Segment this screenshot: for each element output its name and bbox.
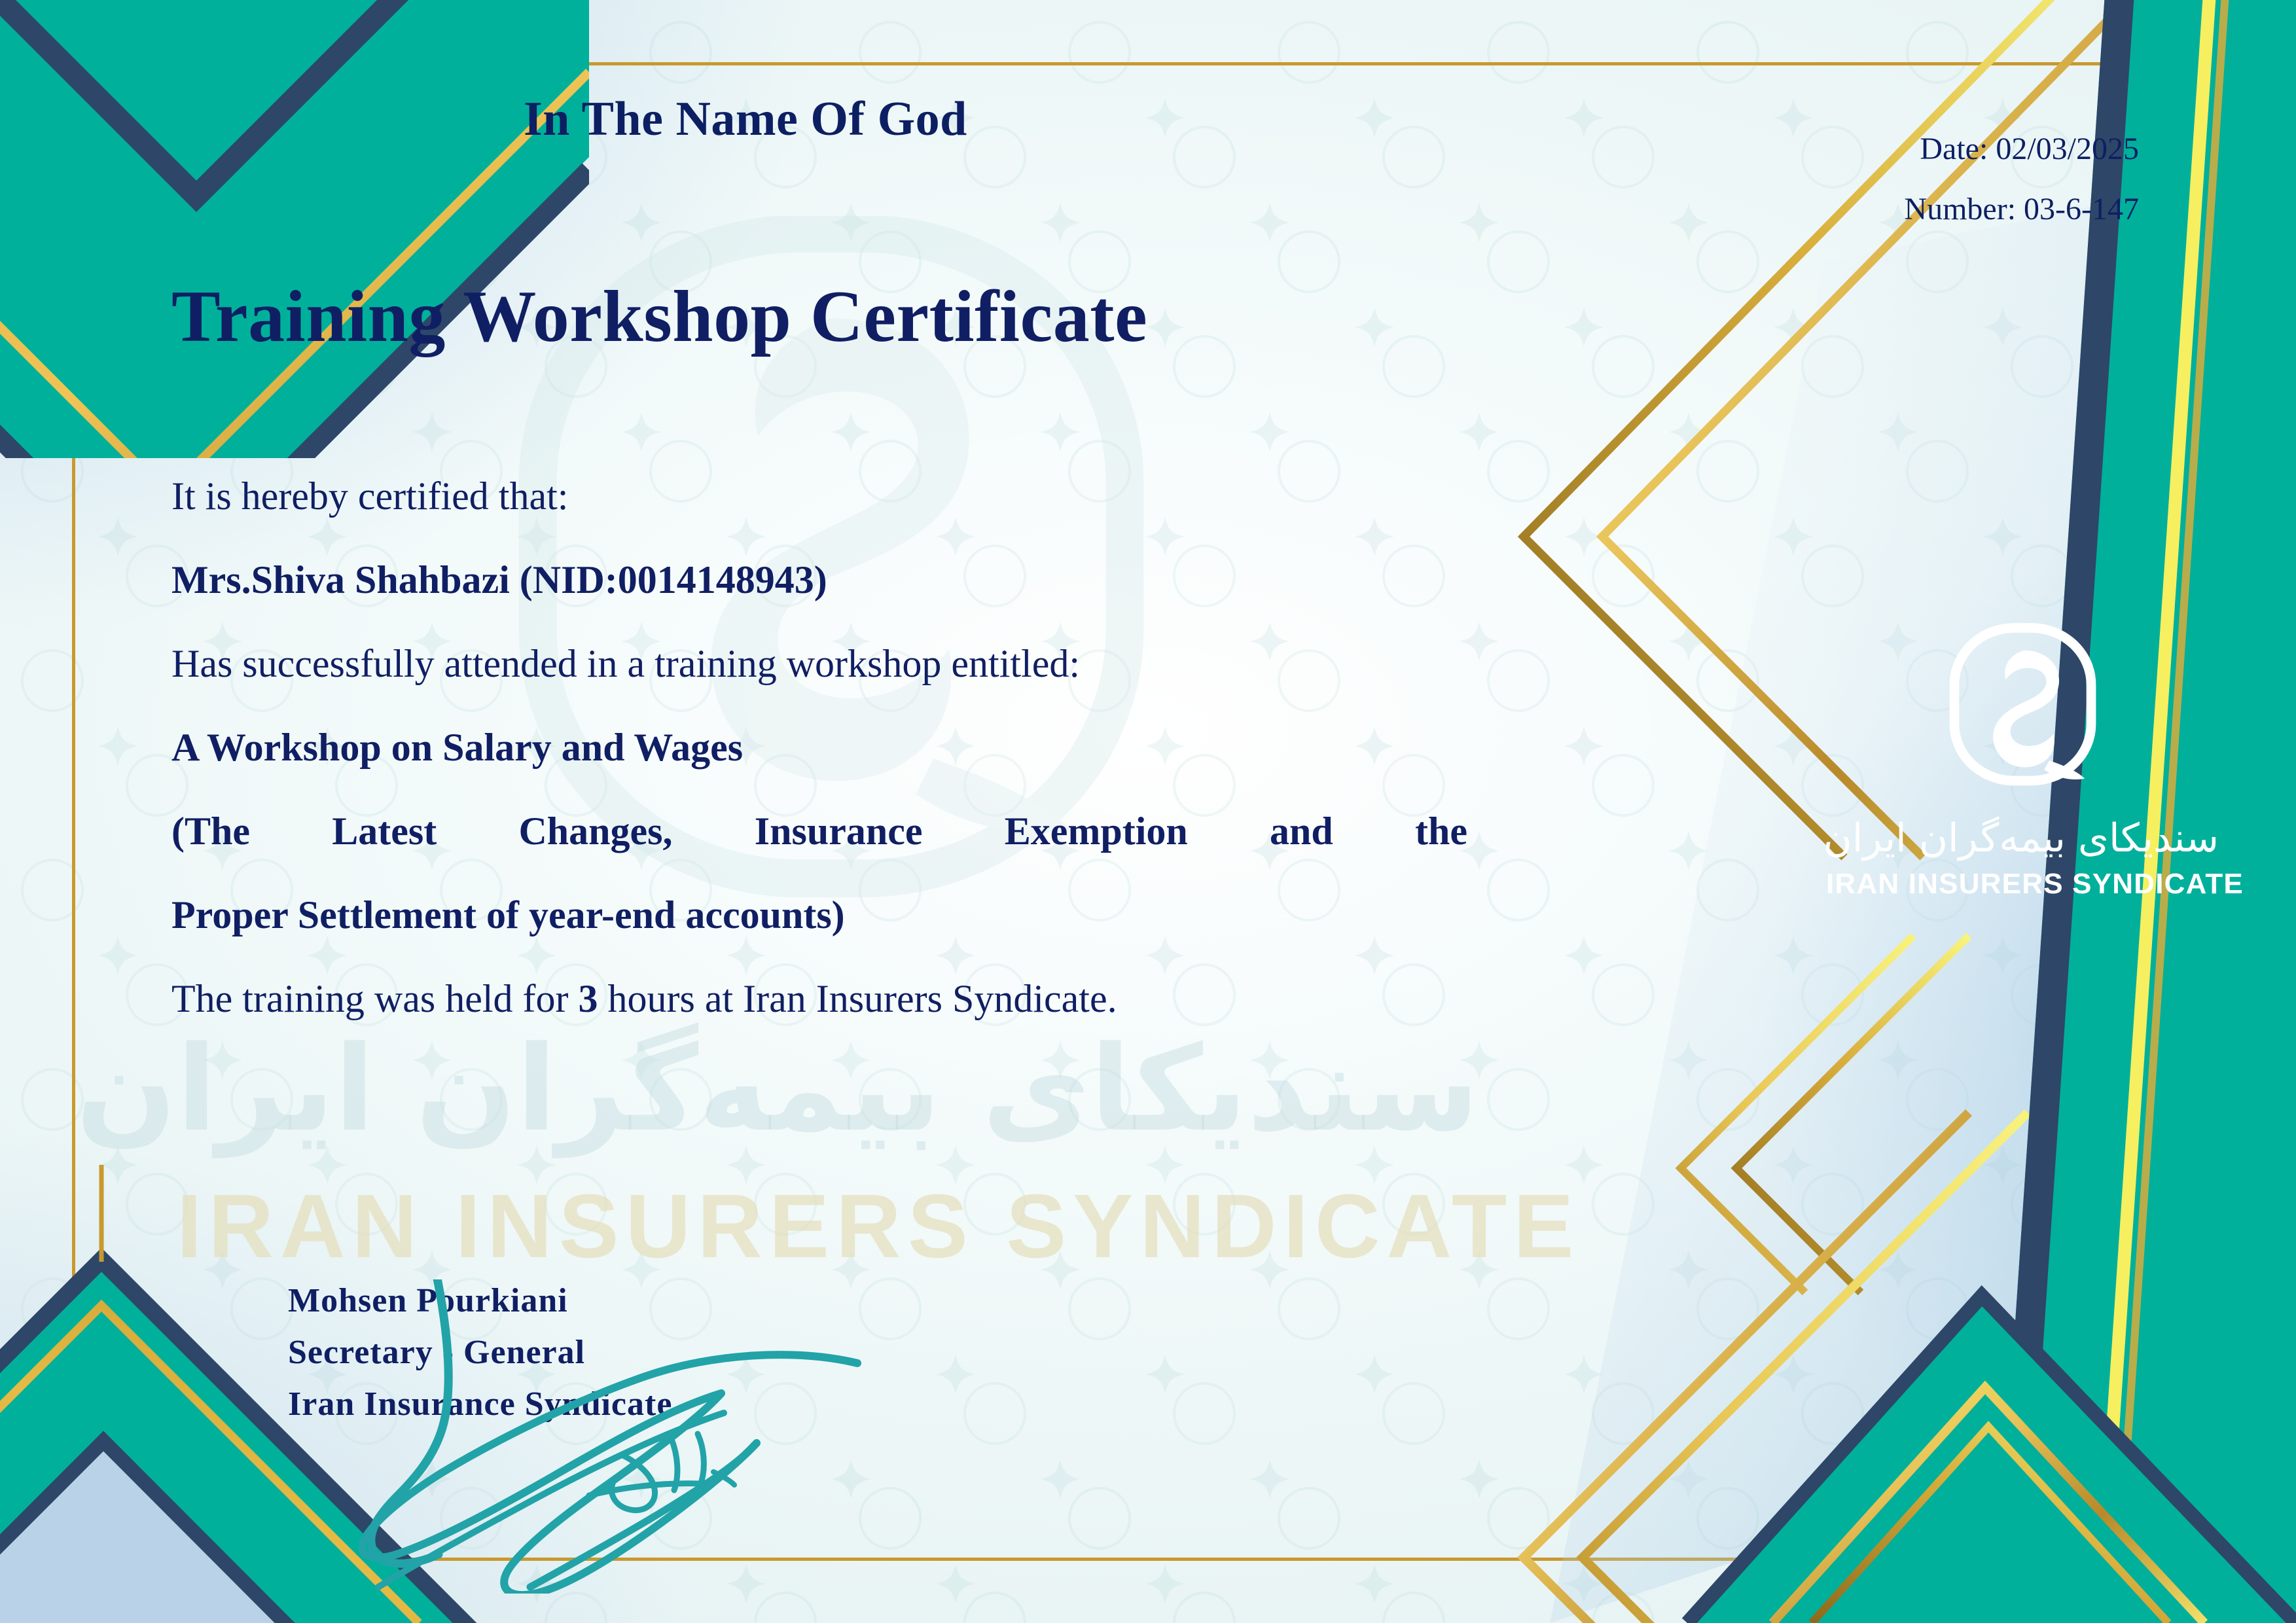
line-certified: It is hereby certified that:	[171, 476, 1467, 516]
issue-date: Date: 02/03/2025	[1904, 119, 2139, 179]
certificate-page: سندیکای بیمه‌گران ایران IRAN INSURERS SY…	[0, 0, 2296, 1623]
signatory-role: Secretary - General	[288, 1327, 672, 1378]
workshop-title: A Workshop on Salary and Wages	[171, 728, 1467, 767]
recipient-name: Mrs.Shiva Shahbazi (NID:0014148943)	[171, 560, 1467, 599]
duration-hours: 3	[578, 977, 598, 1020]
signatory-organization: Iran Insurance Syndicate	[288, 1378, 672, 1430]
signatory-name: Mohsen Pourkiani	[288, 1275, 672, 1327]
syndicate-emblem-icon	[1943, 622, 2103, 800]
page-title: Training Workshop Certificate	[171, 275, 1147, 359]
signature-block: Mohsen Pourkiani Secretary - General Ira…	[288, 1275, 672, 1430]
certificate-body: It is hereby certified that: Mrs.Shiva S…	[171, 476, 1467, 1018]
workshop-subtitle-line-1: (The Latest Changes, Insurance Exemption…	[171, 811, 1467, 851]
certificate-number: Number: 03-6-147	[1904, 179, 2139, 240]
duration-sentence: The training was held for 3 hours at Ira…	[171, 979, 1467, 1018]
certificate-meta: Date: 02/03/2025 Number: 03-6-147	[1904, 119, 2139, 240]
duration-prefix: The training was held for	[171, 977, 578, 1020]
top-left-decoration-group	[0, 0, 589, 458]
logo-name-fa: سندیکای بیمه‌گران ایران	[1826, 817, 2219, 860]
line-attended: Has successfully attended in a training …	[171, 644, 1467, 683]
workshop-subtitle-line-2: Proper Settlement of year-end accounts)	[171, 895, 1467, 935]
logo-name-en: IRAN INSURERS SYNDICATE	[1826, 868, 2219, 901]
invocation-heading: In The Name Of God	[524, 92, 967, 147]
syndicate-logo: سندیکای بیمه‌گران ایران IRAN INSURERS SY…	[1826, 622, 2219, 901]
duration-suffix: hours at Iran Insurers Syndicate.	[598, 977, 1117, 1020]
